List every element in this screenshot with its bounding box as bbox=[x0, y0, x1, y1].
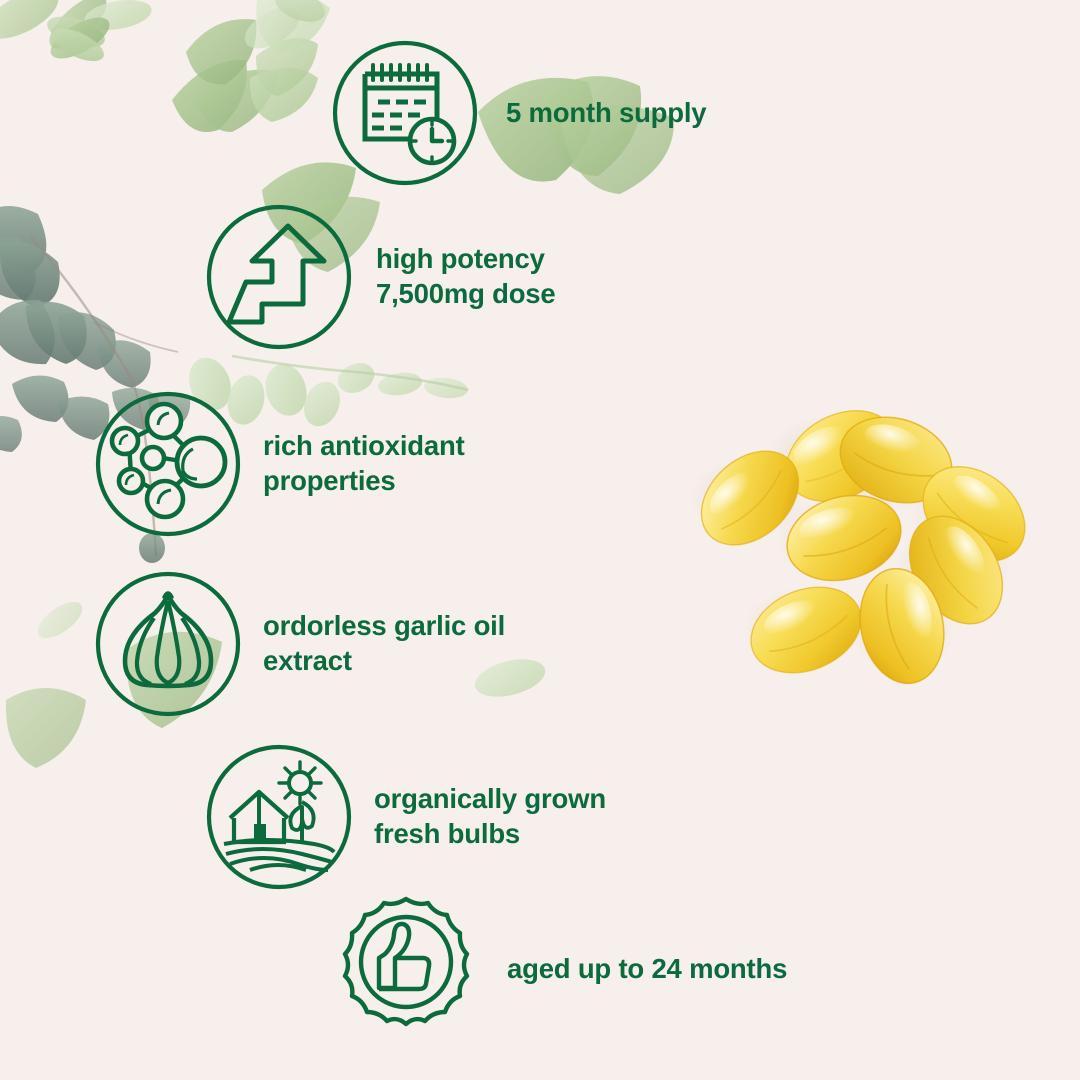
molecule-icon bbox=[95, 391, 241, 537]
feature-row-aged: aged up to 24 months bbox=[333, 896, 787, 1042]
product-feature-infographic: 5 month supply high potency 7,500mg dose bbox=[0, 0, 1080, 1080]
feature-row-antioxidant: rich antioxidant properties bbox=[95, 391, 465, 537]
feature-row-garlic-oil: ordorless garlic oil extract bbox=[95, 571, 505, 717]
feature-label: ordorless garlic oil extract bbox=[263, 609, 505, 678]
softgel-capsules-photo bbox=[678, 338, 1028, 686]
feature-label: 5 month supply bbox=[506, 96, 706, 131]
leaf-group-top-right bbox=[238, 0, 330, 57]
feature-label: organically grown fresh bulbs bbox=[374, 782, 606, 851]
feature-label: high potency 7,500mg dose bbox=[376, 242, 556, 311]
garlic-bulb-icon bbox=[95, 571, 241, 717]
feature-row-supply: 5 month supply bbox=[332, 40, 706, 186]
feature-label: aged up to 24 months bbox=[507, 952, 787, 987]
upward-zigzag-arrow-icon bbox=[206, 204, 352, 350]
feature-row-potency: high potency 7,500mg dose bbox=[206, 204, 556, 350]
feature-label: rich antioxidant properties bbox=[263, 429, 465, 498]
thumbs-up-badge-icon bbox=[333, 896, 479, 1042]
farm-sun-icon bbox=[206, 744, 352, 890]
feature-row-organic: organically grown fresh bulbs bbox=[206, 744, 606, 890]
calendar-clock-icon bbox=[332, 40, 478, 186]
